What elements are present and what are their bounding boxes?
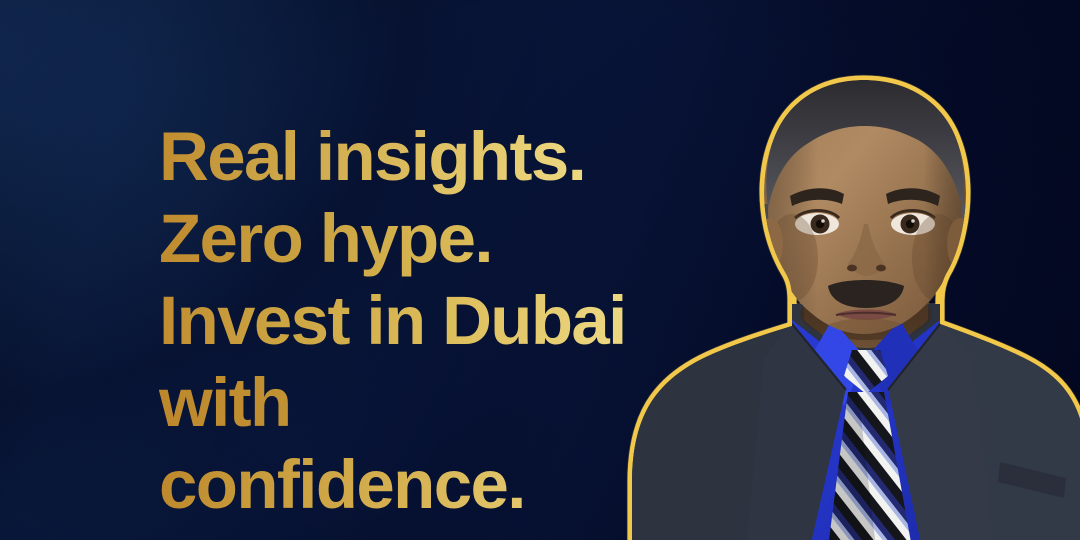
- portrait-content: [596, 68, 1080, 540]
- promo-banner: Real insights. Zero hype. Invest in Duba…: [0, 0, 1080, 540]
- nostril-left: [847, 265, 857, 272]
- nostril-right: [876, 265, 886, 272]
- portrait-photo: [596, 58, 1080, 540]
